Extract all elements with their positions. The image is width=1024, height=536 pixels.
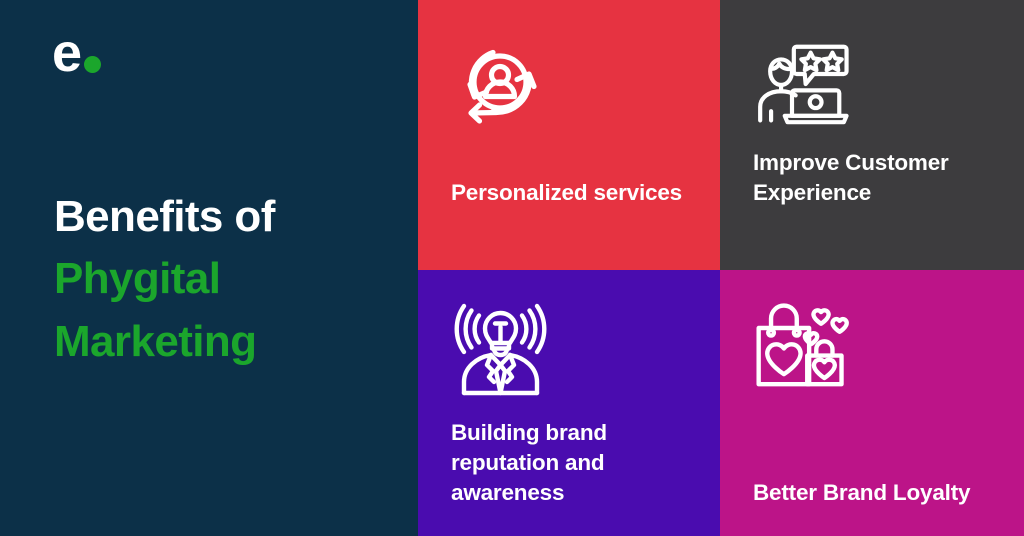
infographic-canvas: e Benefits of Phygital Marketing xyxy=(0,0,1024,536)
page-title: Benefits of Phygital Marketing xyxy=(54,186,275,373)
page-title-line-1: Benefits of xyxy=(54,186,275,248)
benefit-label: Building brand reputation and awareness xyxy=(451,418,706,508)
lightbulb-head-broadcast-icon xyxy=(450,298,550,398)
page-title-line-3: Marketing xyxy=(54,311,275,373)
title-panel: e Benefits of Phygital Marketing xyxy=(0,0,418,536)
logo-letter-e: e xyxy=(52,30,81,76)
page-title-line-2: Phygital xyxy=(54,248,275,310)
logo-green-dot-icon xyxy=(84,56,101,73)
brand-logo: e xyxy=(52,30,101,76)
person-circular-arrows-icon xyxy=(450,34,550,134)
benefit-label: Personalized services xyxy=(451,178,706,208)
benefit-label: Better Brand Loyalty xyxy=(753,478,1010,508)
benefit-card-personalized-services[interactable]: Personalized services xyxy=(418,0,720,270)
benefit-label: Improve Customer Experience xyxy=(753,148,1010,208)
shopping-bags-hearts-icon xyxy=(752,298,852,398)
benefit-card-better-brand-loyalty[interactable]: Better Brand Loyalty xyxy=(720,270,1024,536)
person-laptop-star-rating-icon xyxy=(752,34,852,134)
benefit-card-improve-customer-experience[interactable]: Improve Customer Experience xyxy=(720,0,1024,270)
benefits-grid: Personalized services xyxy=(418,0,1024,536)
benefit-card-building-brand-reputation[interactable]: Building brand reputation and awareness xyxy=(418,270,720,536)
